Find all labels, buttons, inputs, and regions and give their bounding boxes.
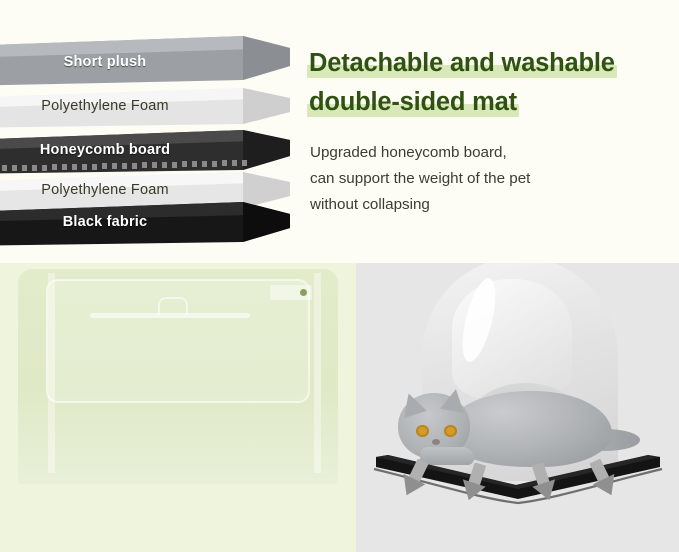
layer-pe-foam-top: Polyethylene Foam <box>0 88 290 134</box>
top-section: Short plush Polyethylene Foam <box>0 0 679 263</box>
arrow-down-2-icon <box>456 463 492 505</box>
comparison-pane-right: PP board <box>356 263 679 552</box>
heading-block: Detachable and washable double-sided mat <box>309 44 674 122</box>
cat-eye-right <box>444 425 457 437</box>
layer-short-plush: Short plush <box>0 36 290 92</box>
carrier-mesh-bar <box>90 313 250 318</box>
body-line-3: without collapsing <box>310 192 670 218</box>
body-line-1: Upgraded honeycomb board, <box>310 140 670 166</box>
body-line-2: can support the weight of the pet <box>310 166 670 192</box>
comparison-section: Honeycomb board <box>0 263 679 552</box>
cat-eye-left <box>416 425 429 437</box>
arrow-down-3-icon <box>526 463 562 505</box>
body-copy: Upgraded honeycomb board, can support th… <box>310 140 670 218</box>
heading-line-2: double-sided mat <box>309 83 517 122</box>
cat-ear-right <box>440 387 467 413</box>
layer-label-0: Short plush <box>0 54 250 70</box>
product-infographic: Short plush Polyethylene Foam <box>0 0 679 552</box>
layer-stack-diagram: Short plush Polyethylene Foam <box>0 0 300 263</box>
layer-label-1: Polyethylene Foam <box>0 98 250 114</box>
cat-nose <box>432 439 440 445</box>
layer-label-4: Black fabric <box>0 214 250 230</box>
layer-black-fabric: Black fabric <box>0 202 290 252</box>
carrier-brand-tag <box>270 285 312 300</box>
comparison-pane-left: Honeycomb board <box>0 263 356 552</box>
arrow-down-1-icon <box>396 459 432 501</box>
carrier-post-left <box>48 273 55 473</box>
pet-carrier-illustration <box>18 269 338 484</box>
carrier-post-right <box>314 273 321 473</box>
cat-ear-left <box>397 390 427 418</box>
layer-label-3: Polyethylene Foam <box>0 182 250 198</box>
arrow-down-4-icon <box>586 459 622 501</box>
heading-line-1: Detachable and washable <box>309 44 615 83</box>
layer-label-2: Honeycomb board <box>0 142 250 158</box>
